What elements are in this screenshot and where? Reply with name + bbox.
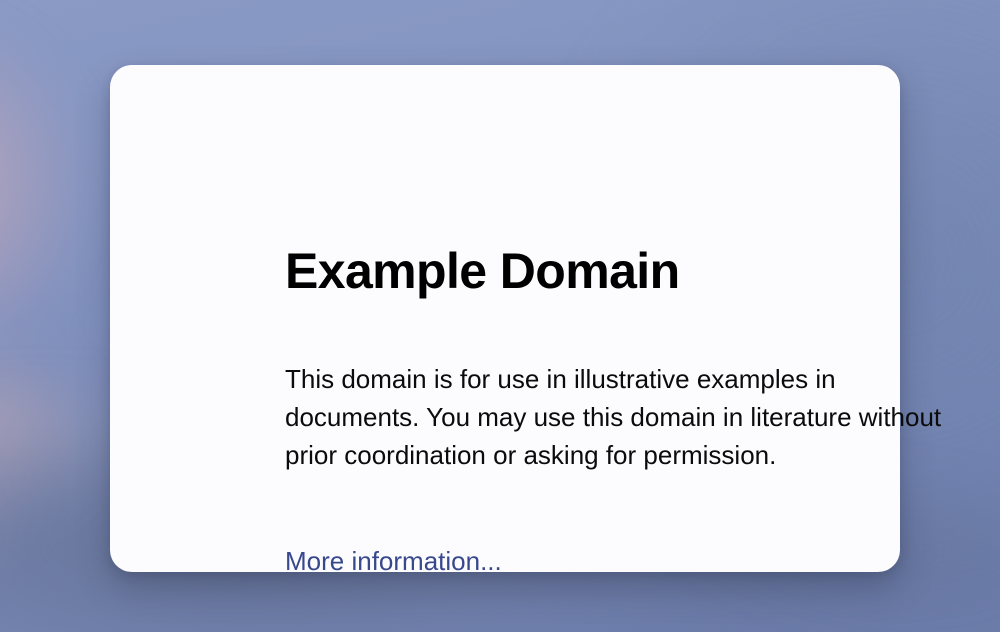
page-title: Example Domain: [285, 243, 680, 299]
content-card: Example Domain This domain is for use in…: [110, 65, 900, 572]
more-information-link[interactable]: More information...: [285, 544, 502, 578]
description-paragraph: This domain is for use in illustrative e…: [285, 360, 945, 474]
